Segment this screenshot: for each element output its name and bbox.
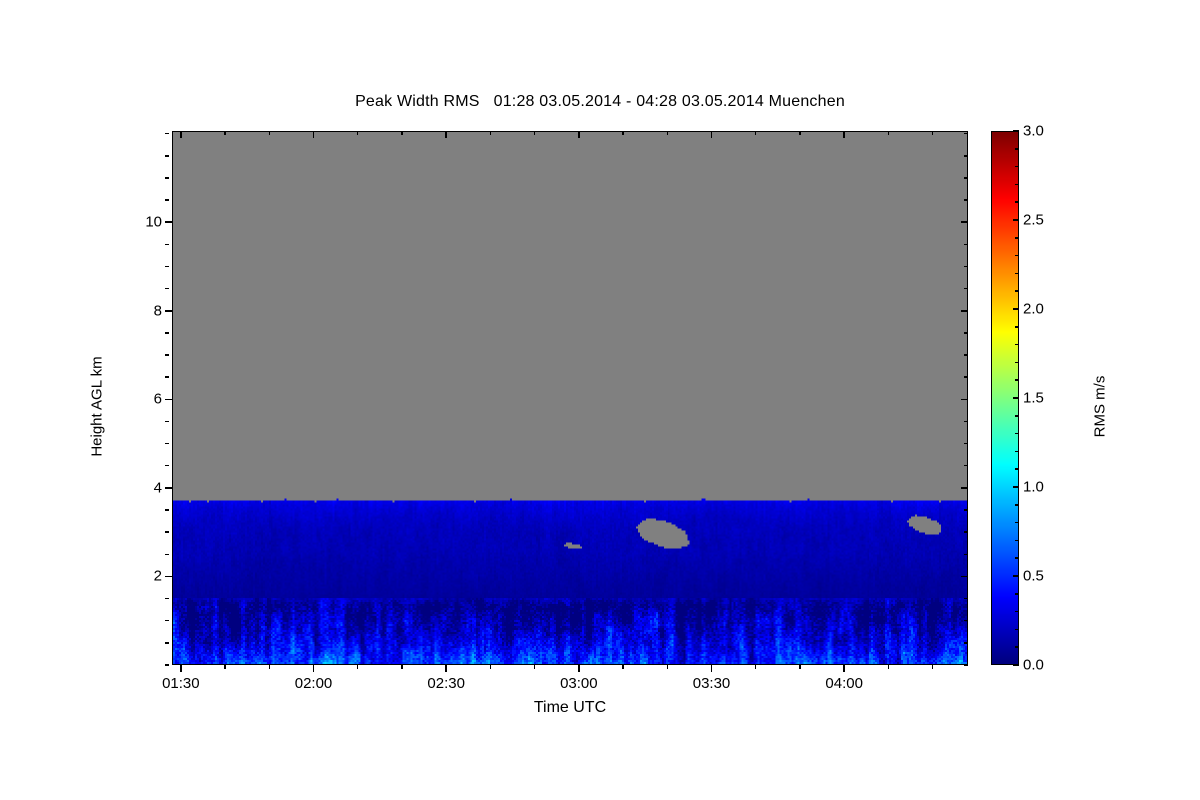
y-tick-minor: [165, 354, 169, 356]
y-tick-minor: [165, 664, 169, 666]
colorbar-tick-minor: [1015, 326, 1019, 328]
x-tick-major: [445, 665, 447, 672]
y-tick-label: 10: [145, 214, 162, 231]
x-tick-major-top: [843, 131, 845, 138]
colorbar-tick-minor: [1015, 148, 1019, 150]
y-tick-major-right: [961, 487, 968, 489]
colorbar-tick-major: [1013, 397, 1019, 399]
x-tick-minor-top: [224, 131, 226, 135]
y-tick-major: [165, 487, 172, 489]
y-tick-minor: [165, 332, 169, 334]
colorbar-tick-label: 1.0: [1023, 479, 1044, 496]
x-axis-title: Time UTC: [172, 699, 968, 717]
x-tick-minor-top: [490, 131, 492, 135]
y-tick-major-right: [961, 399, 968, 401]
colorbar-tick-minor: [1015, 629, 1019, 631]
y-tick-minor-right: [964, 199, 968, 201]
x-tick-major-top: [578, 131, 580, 138]
x-tick-label: 03:30: [693, 675, 731, 692]
colorbar-tick-label: 0.5: [1023, 568, 1044, 585]
y-tick-minor: [165, 443, 169, 445]
y-tick-label: 4: [154, 479, 162, 496]
y-tick-major: [165, 399, 172, 401]
y-tick-minor-right: [964, 443, 968, 445]
colorbar-tick-label: 3.0: [1023, 123, 1044, 140]
y-tick-minor-right: [964, 598, 968, 600]
x-tick-minor-top: [667, 131, 669, 135]
y-tick-minor: [165, 199, 169, 201]
y-tick-minor: [165, 266, 169, 268]
x-tick-major-top: [445, 131, 447, 138]
x-tick-minor: [932, 665, 934, 669]
x-tick-major: [843, 665, 845, 672]
x-tick-minor-top: [401, 131, 403, 135]
colorbar-tick-major: [1013, 219, 1019, 221]
colorbar-tick-major: [1013, 308, 1019, 310]
colorbar-tick-major: [1013, 486, 1019, 488]
x-tick-minor: [622, 665, 624, 669]
y-tick-minor: [165, 288, 169, 290]
x-tick-minor-top: [269, 131, 271, 135]
colorbar-tick-minor: [1015, 201, 1019, 203]
colorbar-tick-minor: [1015, 273, 1019, 275]
y-tick-minor-right: [964, 376, 968, 378]
colorbar-tick-minor: [1015, 184, 1019, 186]
y-tick-minor-right: [964, 133, 968, 135]
colorbar-tick-label: 2.0: [1023, 301, 1044, 318]
y-tick-major: [165, 310, 172, 312]
x-tick-major: [313, 665, 315, 672]
colorbar-tick-label: 0.0: [1023, 657, 1044, 674]
colorbar-tick-minor: [1015, 540, 1019, 542]
x-tick-minor: [490, 665, 492, 669]
y-tick-minor-right: [964, 509, 968, 511]
y-tick-minor-right: [964, 620, 968, 622]
y-axis-title: Height AGL km: [89, 297, 106, 517]
y-tick-minor-right: [964, 288, 968, 290]
colorbar-tick-minor: [1015, 344, 1019, 346]
y-tick-label: 2: [154, 568, 162, 585]
colorbar-tick-minor: [1015, 433, 1019, 435]
page-title: Peak Width RMS 01:28 03.05.2014 - 04:28 …: [0, 93, 1200, 111]
y-tick-minor-right: [964, 354, 968, 356]
y-tick-minor-right: [964, 244, 968, 246]
x-tick-label: 04:00: [825, 675, 863, 692]
y-tick-minor-right: [964, 266, 968, 268]
colorbar-tick-label: 1.5: [1023, 390, 1044, 407]
colorbar-tick-minor: [1015, 290, 1019, 292]
x-tick-major: [578, 665, 580, 672]
colorbar-tick-minor: [1015, 379, 1019, 381]
y-tick-minor: [165, 598, 169, 600]
y-tick-minor-right: [964, 465, 968, 467]
colorbar-tick-minor: [1015, 646, 1019, 648]
colorbar-tick-major: [1013, 575, 1019, 577]
x-tick-major: [711, 665, 713, 672]
x-tick-label: 01:30: [162, 675, 200, 692]
y-tick-label: 8: [154, 302, 162, 319]
colorbar-tick-minor: [1015, 611, 1019, 613]
heatmap-image: [173, 132, 967, 664]
y-tick-major: [165, 576, 172, 578]
y-tick-minor: [165, 376, 169, 378]
x-tick-major-top: [180, 131, 182, 138]
x-tick-minor-top: [888, 131, 890, 135]
colorbar-tick-minor: [1015, 522, 1019, 524]
y-tick-minor: [165, 620, 169, 622]
x-tick-minor: [799, 665, 801, 669]
colorbar-tick-major: [1013, 130, 1019, 132]
x-tick-minor-top: [799, 131, 801, 135]
x-tick-major-top: [711, 131, 713, 138]
y-tick-minor: [165, 554, 169, 556]
x-tick-minor: [534, 665, 536, 669]
y-tick-minor: [165, 642, 169, 644]
x-tick-minor: [888, 665, 890, 669]
y-tick-minor: [165, 177, 169, 179]
figure-canvas: Peak Width RMS 01:28 03.05.2014 - 04:28 …: [0, 0, 1200, 800]
y-tick-minor: [165, 421, 169, 423]
y-tick-minor: [165, 133, 169, 135]
colorbar-tick-minor: [1015, 557, 1019, 559]
x-tick-minor: [401, 665, 403, 669]
y-tick-label: 6: [154, 391, 162, 408]
x-tick-minor-top: [932, 131, 934, 135]
y-tick-major-right: [961, 310, 968, 312]
y-tick-minor-right: [964, 554, 968, 556]
x-tick-minor: [667, 665, 669, 669]
colorbar-tick-minor: [1015, 237, 1019, 239]
x-tick-minor-top: [534, 131, 536, 135]
x-tick-minor-top: [755, 131, 757, 135]
y-tick-minor-right: [964, 664, 968, 666]
x-tick-minor: [224, 665, 226, 669]
colorbar-tick-minor: [1015, 504, 1019, 506]
colorbar-tick-minor: [1015, 451, 1019, 453]
x-tick-minor-top: [622, 131, 624, 135]
y-tick-minor: [165, 509, 169, 511]
x-tick-minor-top: [357, 131, 359, 135]
y-tick-major-right: [961, 221, 968, 223]
x-tick-label: 02:00: [295, 675, 333, 692]
x-tick-minor: [269, 665, 271, 669]
heatmap-plot-area[interactable]: [172, 131, 968, 665]
y-tick-minor-right: [964, 642, 968, 644]
y-tick-major: [165, 221, 172, 223]
x-tick-minor: [357, 665, 359, 669]
y-tick-major-right: [961, 576, 968, 578]
y-tick-minor: [165, 155, 169, 157]
colorbar-tick-major: [1013, 664, 1019, 666]
x-tick-label: 02:30: [427, 675, 465, 692]
colorbar-tick-minor: [1015, 593, 1019, 595]
colorbar-tick-minor: [1015, 166, 1019, 168]
x-tick-major-top: [313, 131, 315, 138]
colorbar-tick-minor: [1015, 415, 1019, 417]
colorbar-tick-label: 2.5: [1023, 212, 1044, 229]
x-tick-minor: [755, 665, 757, 669]
y-tick-minor: [165, 465, 169, 467]
colorbar-title: RMS m/s: [1092, 307, 1109, 507]
colorbar-tick-minor: [1015, 255, 1019, 257]
y-tick-minor-right: [964, 421, 968, 423]
x-tick-major: [180, 665, 182, 672]
colorbar-tick-minor: [1015, 362, 1019, 364]
x-tick-label: 03:00: [560, 675, 598, 692]
y-tick-minor: [165, 531, 169, 533]
y-tick-minor-right: [964, 531, 968, 533]
y-tick-minor-right: [964, 155, 968, 157]
y-tick-minor-right: [964, 332, 968, 334]
y-tick-minor-right: [964, 177, 968, 179]
y-tick-minor: [165, 244, 169, 246]
colorbar-tick-minor: [1015, 468, 1019, 470]
